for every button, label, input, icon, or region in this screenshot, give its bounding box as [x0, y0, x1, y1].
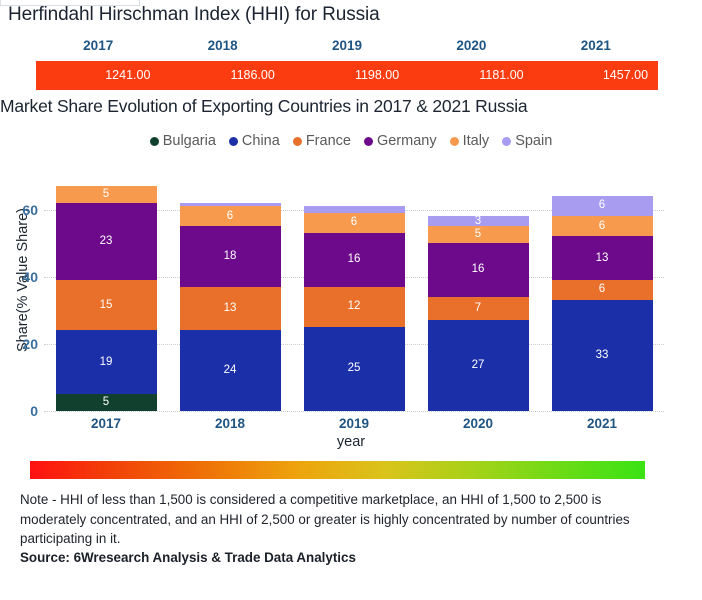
bar-segment-china[interactable]: 25: [304, 327, 405, 411]
legend-item-france[interactable]: France: [293, 133, 351, 149]
legend-item-germany[interactable]: Germany: [364, 133, 437, 149]
legend-label: Spain: [515, 133, 552, 149]
hhi-value-cell: 1457.00: [534, 61, 658, 90]
legend-item-china[interactable]: China: [229, 133, 280, 149]
bar-segment-italy[interactable]: 6: [180, 206, 281, 226]
legend-label: Germany: [377, 133, 437, 149]
y-tick-label: 0: [4, 403, 38, 419]
bar-segment-germany[interactable]: 23: [56, 203, 157, 280]
legend-item-italy[interactable]: Italy: [450, 133, 490, 149]
bar-value-label: 25: [348, 363, 361, 375]
y-tick-label: 20: [4, 336, 38, 352]
bar-value-label: 6: [599, 221, 605, 233]
bar-segment-italy[interactable]: 6: [304, 213, 405, 233]
bar-value-label: 15: [100, 300, 113, 312]
bar-value-label: 5: [475, 229, 481, 241]
bar-segment-italy[interactable]: 5: [56, 186, 157, 203]
bar-group-2021[interactable]: 6613633: [552, 196, 653, 411]
legend-item-bulgaria[interactable]: Bulgaria: [150, 133, 216, 149]
bar-value-label: 27: [472, 360, 485, 372]
x-tick-label: 2017: [56, 416, 157, 431]
hhi-value-cell: 1186.00: [160, 61, 284, 90]
x-axis-title: year: [0, 434, 702, 450]
hhi-year-label: 2017: [36, 36, 160, 56]
hhi-year-label: 2020: [409, 36, 533, 56]
bar-value-label: 5: [103, 189, 109, 201]
bar-value-label: 23: [100, 236, 113, 248]
bar-value-label: 13: [596, 253, 609, 265]
note-text: Note - HHI of less than 1,500 is conside…: [20, 490, 668, 549]
bar-value-label: 7: [475, 303, 481, 315]
hhi-year-label: 2018: [160, 36, 284, 56]
hhi-title: Herfindahl Hirschman Index (HHI) for Rus…: [8, 4, 380, 26]
bar-segment-germany[interactable]: 16: [304, 233, 405, 287]
legend-item-spain[interactable]: Spain: [502, 133, 552, 149]
chart-title: Market Share Evolution of Exporting Coun…: [0, 96, 527, 117]
bar-segment-bulgaria[interactable]: 5: [56, 394, 157, 411]
legend-label: China: [242, 133, 280, 149]
bar-segment-italy[interactable]: 6: [552, 216, 653, 236]
bar-group-2018[interactable]: 6181324: [180, 203, 281, 411]
legend-swatch-icon: [364, 137, 373, 146]
bar-value-label: 6: [227, 211, 233, 223]
hhi-year-header-row: 20172018201920202021: [36, 36, 658, 56]
legend-swatch-icon: [450, 137, 459, 146]
bar-value-label: 16: [472, 264, 485, 276]
bar-group-2019[interactable]: 6161225: [304, 206, 405, 411]
legend-label: France: [306, 133, 351, 149]
bar-group-2017[interactable]: 52315195: [56, 186, 157, 411]
bar-segment-germany[interactable]: 18: [180, 226, 281, 286]
bar-value-label: 12: [348, 301, 361, 313]
bar-value-label: 5: [103, 397, 109, 409]
bar-segment-germany[interactable]: 16: [428, 243, 529, 297]
hhi-year-label: 2021: [534, 36, 658, 56]
hhi-value-cell: 1241.00: [36, 61, 160, 90]
hhi-value-cell: 1181.00: [409, 61, 533, 90]
legend-label: Bulgaria: [163, 133, 216, 149]
y-tick-label: 40: [4, 269, 38, 285]
bar-segment-spain[interactable]: 3: [428, 216, 529, 226]
bar-segment-germany[interactable]: 13: [552, 236, 653, 280]
bar-segment-china[interactable]: 19: [56, 330, 157, 394]
bar-segment-china[interactable]: 27: [428, 320, 529, 411]
concentration-gradient-bar: [30, 461, 645, 479]
bar-value-label: 19: [100, 357, 113, 369]
bar-value-label: 3: [475, 216, 481, 226]
legend-swatch-icon: [229, 137, 238, 146]
hhi-year-label: 2019: [285, 36, 409, 56]
bar-segment-spain[interactable]: [304, 206, 405, 213]
bar-value-label: 18: [224, 251, 237, 263]
bar-segment-france[interactable]: 6: [552, 280, 653, 300]
bar-segment-france[interactable]: 13: [180, 287, 281, 331]
legend-swatch-icon: [150, 137, 159, 146]
x-tick-label: 2021: [552, 416, 653, 431]
bar-value-label: 13: [224, 303, 237, 315]
bar-segment-italy[interactable]: 5: [428, 226, 529, 243]
x-tick-label: 2020: [428, 416, 529, 431]
x-axis-line: [44, 411, 664, 412]
bar-value-label: 24: [224, 365, 237, 377]
bar-segment-france[interactable]: 7: [428, 297, 529, 321]
bar-value-label: 6: [599, 284, 605, 296]
bar-group-2020[interactable]: 3516727: [428, 216, 529, 411]
bar-segment-france[interactable]: 12: [304, 287, 405, 327]
legend-swatch-icon: [502, 137, 511, 146]
bar-segment-china[interactable]: 33: [552, 300, 653, 411]
y-tick-label: 60: [4, 202, 38, 218]
source-text: Source: 6Wresearch Analysis & Trade Data…: [20, 550, 356, 565]
bar-segment-china[interactable]: 24: [180, 330, 281, 411]
hhi-value-row: 1241.001186.001198.001181.001457.00: [36, 61, 658, 90]
bar-value-label: 6: [599, 200, 605, 212]
chart-plot-area: Share(% Value Share) 0204060523151952017…: [0, 160, 702, 422]
legend-label: Italy: [463, 133, 490, 149]
bar-value-label: 16: [348, 254, 361, 266]
bar-segment-france[interactable]: 15: [56, 280, 157, 330]
bar-value-label: 6: [351, 217, 357, 229]
bar-segment-spain[interactable]: 6: [552, 196, 653, 216]
chart-legend: BulgariaChinaFranceGermanyItalySpain: [0, 130, 702, 152]
legend-swatch-icon: [293, 137, 302, 146]
bar-value-label: 33: [596, 350, 609, 362]
hhi-value-cell: 1198.00: [285, 61, 409, 90]
x-tick-label: 2019: [304, 416, 405, 431]
x-tick-label: 2018: [180, 416, 281, 431]
